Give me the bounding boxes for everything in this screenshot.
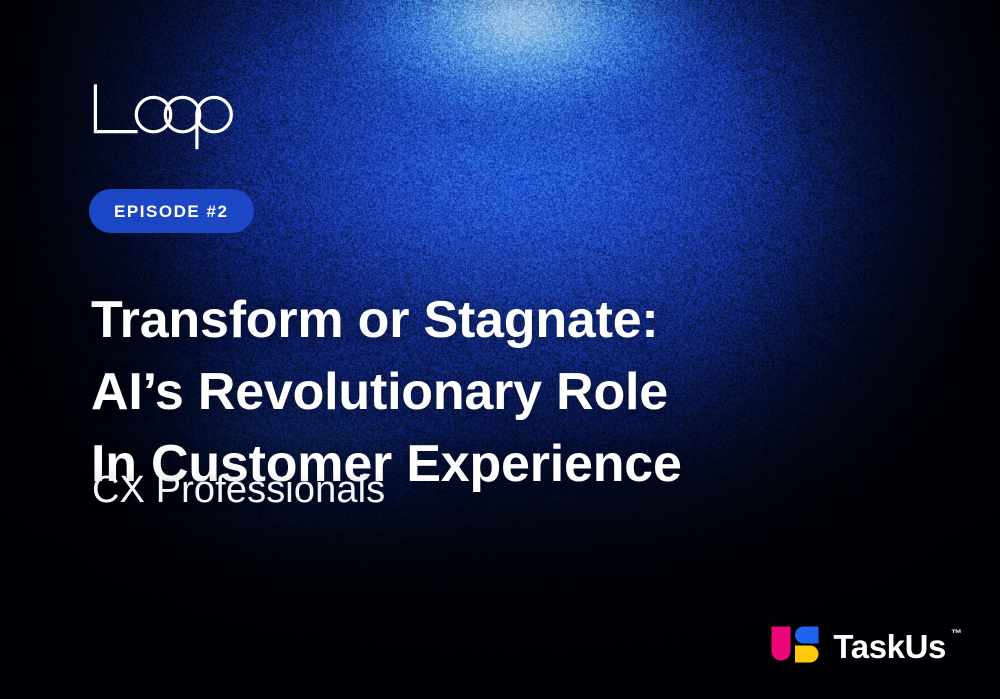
title-line-1: Transform or Stagnate: [91,284,931,356]
page-subtitle: CX Professionals [92,467,385,515]
title-line-2: AI’s Revolutionary Role [91,356,931,428]
episode-badge: EPISODE #2 [89,189,254,233]
taskus-mark-icon [770,625,820,667]
episode-title-card: EPISODE #2 Transform or Stagnate: AI’s R… [0,0,1000,699]
card-content: EPISODE #2 Transform or Stagnate: AI’s R… [0,0,1000,699]
taskus-wordmark: TaskUs™ [833,630,962,663]
loop-logo [92,84,242,150]
trademark-symbol: ™ [951,629,962,640]
taskus-wordmark-text: TaskUs [833,628,946,665]
taskus-logo: TaskUs™ [770,625,962,667]
